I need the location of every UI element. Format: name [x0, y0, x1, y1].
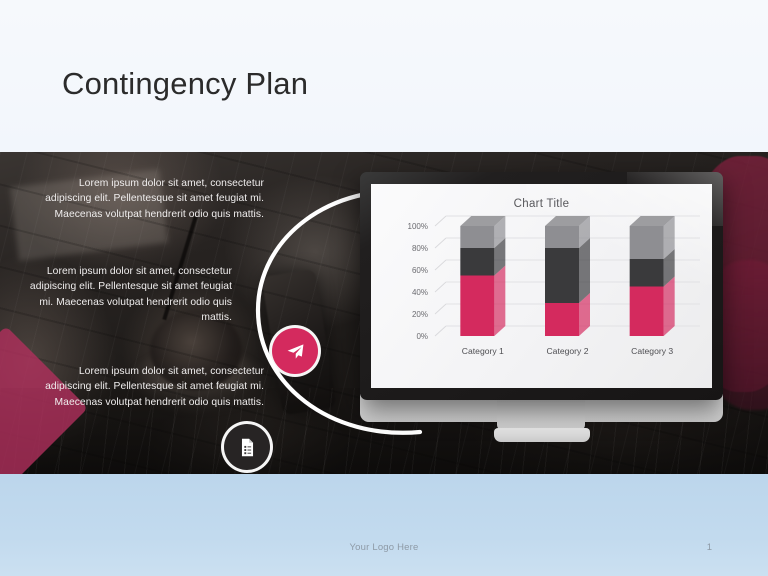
step-text-2: Lorem ipsum dolor sit amet, consectetur … — [18, 264, 232, 326]
monitor-base — [494, 428, 590, 442]
chart-area: Chart Title 0%20%40%60%80%100%Category 1… — [371, 184, 712, 388]
monitor-neck — [497, 398, 585, 430]
step-node-1[interactable] — [272, 328, 318, 374]
checklist-document-icon — [239, 438, 256, 457]
svg-text:60%: 60% — [412, 266, 428, 275]
step-node-2[interactable] — [224, 424, 270, 470]
presentation-slide: Contingency Plan Lorem ipsum dolor sit a… — [0, 0, 768, 576]
svg-text:80%: 80% — [412, 244, 428, 253]
svg-text:100%: 100% — [408, 222, 428, 231]
title-area: Contingency Plan — [62, 62, 682, 116]
step-text-3: Lorem ipsum dolor sit amet, consectetur … — [42, 364, 264, 410]
svg-text:20%: 20% — [412, 310, 428, 319]
footer-logo-placeholder: Your Logo Here — [0, 542, 768, 553]
page-number: 1 — [707, 542, 712, 553]
monitor-device: Chart Title 0%20%40%60%80%100%Category 1… — [360, 172, 723, 400]
step-text-1: Lorem ipsum dolor sit amet, consectetur … — [32, 176, 264, 222]
monitor-screen: Chart Title 0%20%40%60%80%100%Category 1… — [371, 184, 712, 388]
paper-plane-icon — [286, 342, 305, 361]
page-title: Contingency Plan — [62, 62, 682, 106]
svg-text:0%: 0% — [416, 332, 428, 341]
svg-text:Category 1: Category 1 — [462, 346, 504, 356]
stacked-bar-chart: 0%20%40%60%80%100%Category 1Category 2Ca… — [371, 184, 712, 388]
svg-text:Category 2: Category 2 — [546, 346, 588, 356]
footer-band — [0, 474, 768, 576]
svg-text:Category 3: Category 3 — [631, 346, 673, 356]
svg-text:40%: 40% — [412, 288, 428, 297]
